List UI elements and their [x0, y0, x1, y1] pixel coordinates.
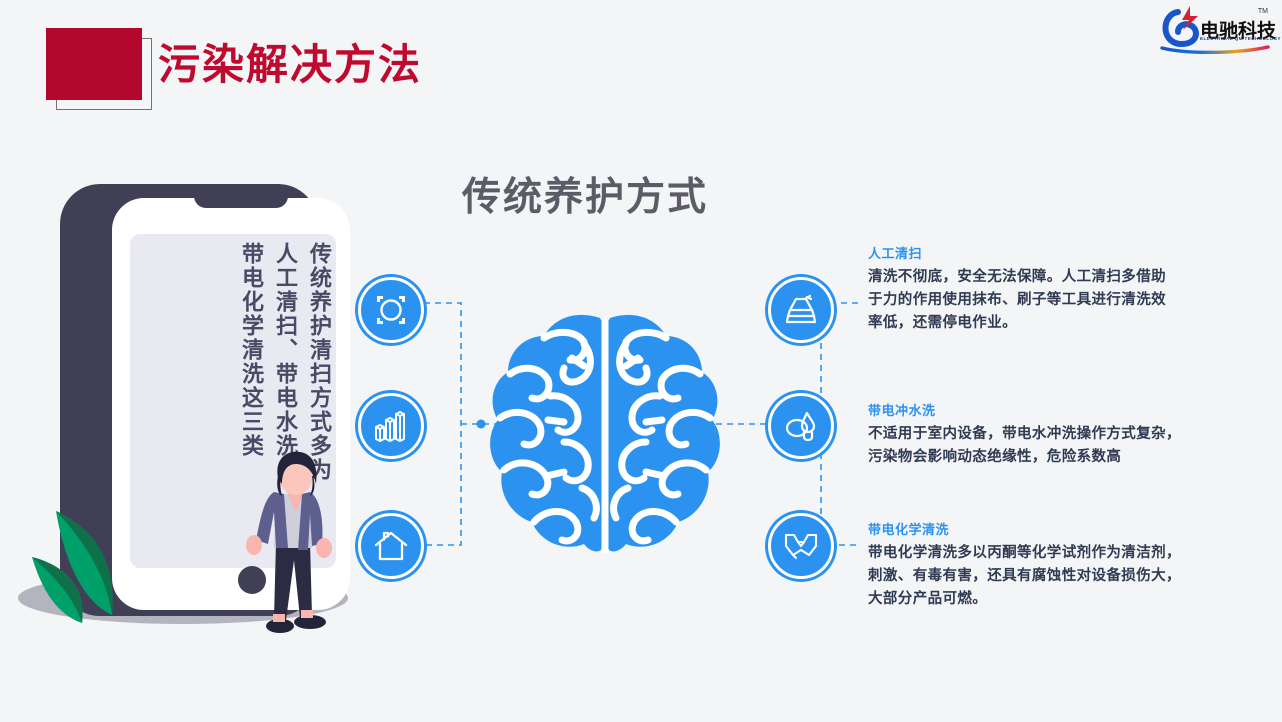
water-drop-brush-icon: [783, 410, 819, 442]
phone-notch: [194, 188, 288, 208]
plant-leaves: [12, 505, 142, 645]
logo-tm: TM: [1258, 8, 1268, 15]
text-block-line: 清洗不彻底，安全无法保障。人工清扫多借助: [868, 266, 1228, 289]
brain-illustration: [480, 300, 730, 590]
handshake-icon: [783, 531, 819, 561]
text-block-live-water-washing: 带电冲水洗 不适用于室内设备，带电水冲洗操作方式复杂， 污染物会影响动态绝缘性，…: [868, 400, 1228, 469]
right-icon-broom-stack[interactable]: [768, 277, 834, 343]
text-block-heading: 人工清扫: [868, 243, 1228, 262]
woman-standing-graphic: [240, 450, 350, 650]
title-solid-square: [46, 28, 142, 100]
right-icon-water-drop-brush[interactable]: [768, 393, 834, 459]
text-block-live-chemical-cleaning: 带电化学清洗 带电化学清洗多以丙酮等化学试剂作为清洁剂， 刺激、有毒有害，还具有…: [868, 519, 1228, 611]
left-icon-focus-frame[interactable]: [358, 277, 424, 343]
text-block-line: 带电化学清洗多以丙酮等化学试剂作为清洁剂，: [868, 542, 1228, 565]
left-icon-house[interactable]: [358, 513, 424, 579]
right-icon-handshake[interactable]: [768, 513, 834, 579]
page-title: 污染解决方法: [158, 39, 422, 91]
text-block-line: 率低，还需停电作业。: [868, 312, 1228, 335]
text-block-line: 刺激、有毒有害，还具有腐蚀性对设备损伤大，: [868, 565, 1228, 588]
focus-frame-icon: [374, 293, 408, 327]
section-heading: 传统养护方式: [462, 166, 708, 222]
brain-graphic: [480, 300, 730, 590]
text-block-heading: 带电化学清洗: [868, 519, 1228, 538]
left-icon-bar-chart[interactable]: [358, 393, 424, 459]
bar-chart-icon: [373, 410, 409, 442]
person-illustration: [240, 450, 350, 650]
house-icon: [374, 530, 408, 562]
slide-canvas: 污染解决方法 电驰科技 ELECTRICAL QM TECHNOLOGY TM …: [0, 0, 1282, 722]
text-block-line: 污染物会影响动态绝缘性，危险系数高: [868, 446, 1228, 469]
logo-brand-en: ELECTRICAL QM TECHNOLOGY: [1200, 36, 1281, 41]
text-block-heading: 带电冲水洗: [868, 400, 1228, 419]
text-block-manual-cleaning: 人工清扫 清洗不彻底，安全无法保障。人工清扫多借助 于力的作用使用抹布、刷子等工…: [868, 243, 1228, 335]
leaves-graphic: [12, 505, 142, 645]
title-decoration: [46, 28, 156, 108]
text-block-line: 不适用于室内设备，带电水冲洗操作方式复杂，: [868, 423, 1228, 446]
text-block-line: 大部分产品可燃。: [868, 588, 1228, 611]
company-logo: 电驰科技 ELECTRICAL QM TECHNOLOGY TM: [1156, 2, 1274, 54]
broom-stack-icon: [783, 294, 819, 326]
text-block-line: 于力的作用使用抹布、刷子等工具进行清洗效: [868, 289, 1228, 312]
